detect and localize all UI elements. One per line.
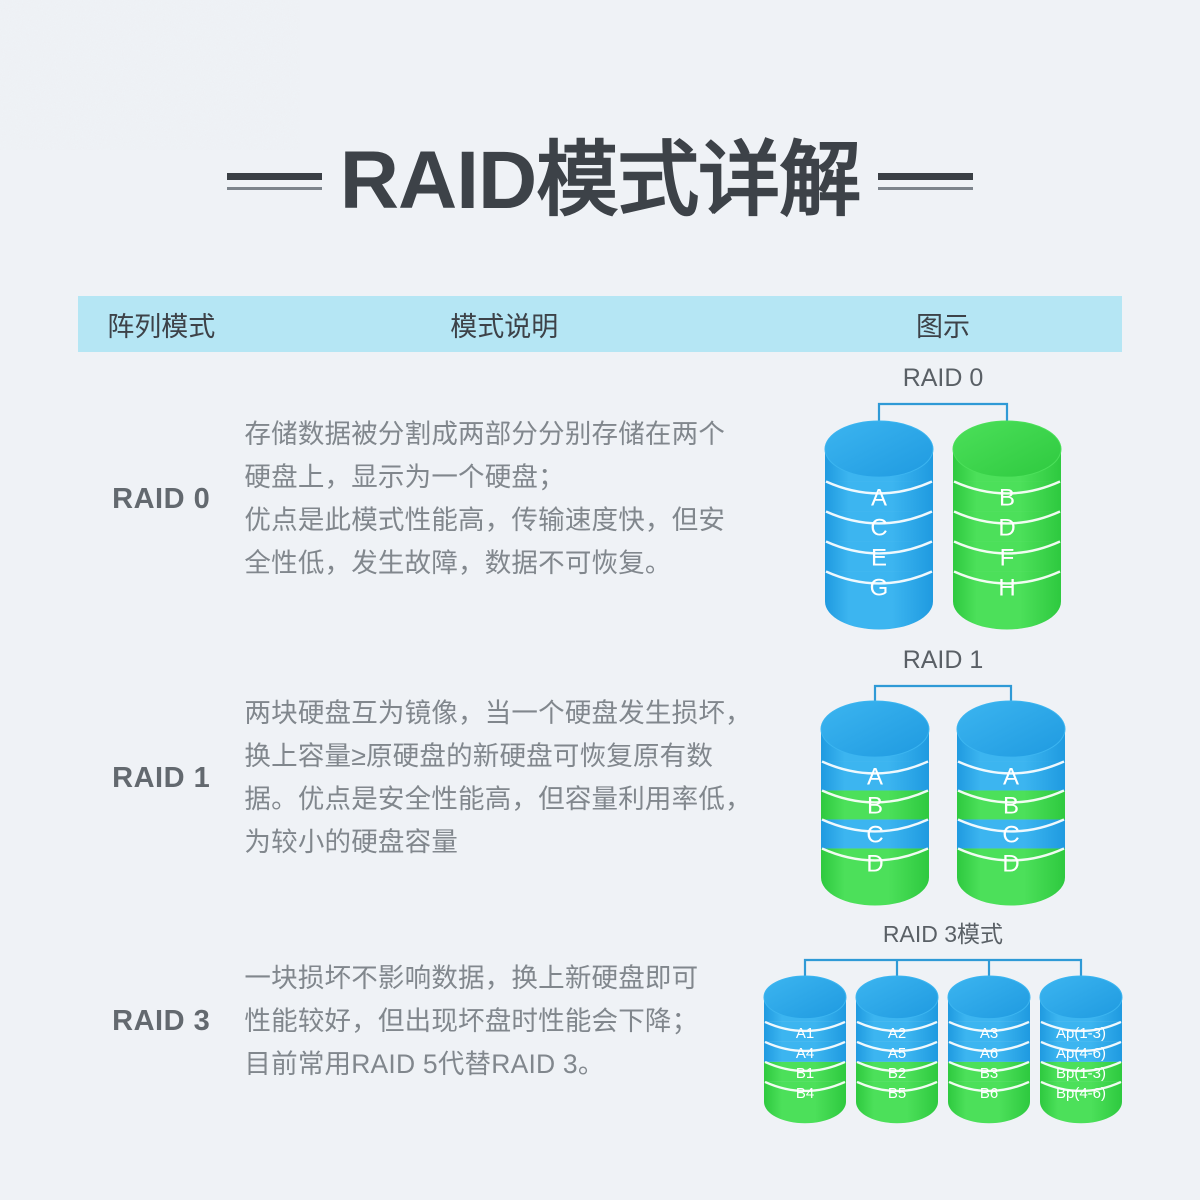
cell-description: 存储数据被分割成两部分分别存储在两个 硬盘上，显示为一个硬盘； 优点是此模式性能… bbox=[244, 352, 764, 646]
cell-mode: RAID 0 bbox=[78, 352, 244, 646]
mode-label-1: RAID 1 bbox=[112, 762, 210, 794]
disk-1: A1A4B1B4 bbox=[764, 976, 846, 1123]
cell-description: 两块硬盘互为镜像，当一个硬盘发生损坏， 换上容量≥原硬盘的新硬盘可恢复原有数 据… bbox=[244, 646, 764, 910]
figure-raid-3: RAID 3模式 A1A4B1B4 A2A5B2B5 bbox=[764, 915, 1122, 1124]
svg-text:B4: B4 bbox=[796, 1085, 814, 1102]
svg-text:A: A bbox=[1003, 763, 1019, 790]
svg-text:A5: A5 bbox=[888, 1045, 906, 1062]
figure-caption: RAID 3模式 bbox=[764, 915, 1122, 949]
cell-figure: RAID 3模式 A1A4B1B4 A2A5B2B5 bbox=[764, 910, 1122, 1133]
svg-text:B5: B5 bbox=[888, 1085, 906, 1102]
figure-caption: RAID 1 bbox=[821, 646, 1065, 675]
svg-text:A4: A4 bbox=[796, 1045, 814, 1062]
cell-description: 一块损坏不影响数据，换上新硬盘即可 性能较好，但出现坏盘时性能会下降； 目前常用… bbox=[244, 910, 764, 1133]
svg-text:Bp(4-6): Bp(4-6) bbox=[1056, 1085, 1106, 1102]
mode-label-2: RAID 3 bbox=[112, 1005, 210, 1037]
svg-text:D: D bbox=[1002, 850, 1019, 877]
description-text-0: 存储数据被分割成两部分分别存储在两个 硬盘上，显示为一个硬盘； 优点是此模式性能… bbox=[244, 413, 764, 585]
svg-text:Ap(4-6): Ap(4-6) bbox=[1056, 1045, 1106, 1062]
svg-text:B6: B6 bbox=[980, 1085, 998, 1102]
title-rule-left bbox=[227, 173, 322, 190]
title-rule-right bbox=[878, 173, 973, 190]
svg-text:A: A bbox=[867, 763, 883, 790]
raid-modes-table: 阵列模式 模式说明 图示 RAID 0存储数据被分割成两部分分别存储在两个 硬盘… bbox=[78, 296, 1122, 1133]
disk-1: ABCD bbox=[821, 701, 929, 906]
column-header-mode: 阵列模式 bbox=[78, 296, 244, 352]
figure-raid-0: RAID 0 ACEG BDFH bbox=[825, 364, 1061, 629]
cell-figure: RAID 0 ACEG BDFH bbox=[764, 352, 1122, 646]
background-texture bbox=[0, 0, 300, 150]
svg-text:D: D bbox=[998, 514, 1015, 541]
svg-text:G: G bbox=[870, 574, 889, 601]
svg-text:B1: B1 bbox=[796, 1065, 814, 1082]
table-row: RAID 1两块硬盘互为镜像，当一个硬盘发生损坏， 换上容量≥原硬盘的新硬盘可恢… bbox=[78, 646, 1122, 910]
column-header-description: 模式说明 bbox=[244, 296, 764, 352]
svg-text:A1: A1 bbox=[796, 1025, 814, 1042]
disk-2: A2A5B2B5 bbox=[856, 976, 938, 1123]
svg-text:C: C bbox=[1002, 821, 1019, 848]
table-body: RAID 0存储数据被分割成两部分分别存储在两个 硬盘上，显示为一个硬盘； 优点… bbox=[78, 352, 1122, 1133]
svg-text:A2: A2 bbox=[888, 1025, 906, 1042]
svg-text:F: F bbox=[1000, 544, 1015, 571]
disk-3: A3A6B3B6 bbox=[948, 976, 1030, 1123]
cell-mode: RAID 1 bbox=[78, 646, 244, 910]
svg-text:B2: B2 bbox=[888, 1065, 906, 1082]
disk-group: ABCD ABCD bbox=[821, 701, 1065, 906]
table-header-row: 阵列模式 模式说明 图示 bbox=[78, 296, 1122, 352]
svg-text:B: B bbox=[1003, 792, 1019, 819]
svg-text:E: E bbox=[871, 544, 887, 571]
table-row: RAID 0存储数据被分割成两部分分别存储在两个 硬盘上，显示为一个硬盘； 优点… bbox=[78, 352, 1122, 646]
column-header-figure: 图示 bbox=[764, 296, 1122, 352]
disk-4: Ap(1-3)Ap(4-6)Bp(1-3)Bp(4-6) bbox=[1040, 976, 1122, 1123]
description-text-1: 两块硬盘互为镜像，当一个硬盘发生损坏， 换上容量≥原硬盘的新硬盘可恢复原有数 据… bbox=[244, 692, 764, 864]
disk-group: ACEG BDFH bbox=[825, 421, 1061, 630]
cell-mode: RAID 3 bbox=[78, 910, 244, 1133]
svg-text:A6: A6 bbox=[980, 1045, 998, 1062]
svg-text:D: D bbox=[866, 850, 883, 877]
svg-text:A: A bbox=[871, 484, 887, 511]
svg-text:A3: A3 bbox=[980, 1025, 998, 1042]
svg-text:C: C bbox=[870, 514, 887, 541]
table-row: RAID 3一块损坏不影响数据，换上新硬盘即可 性能较好，但出现坏盘时性能会下降… bbox=[78, 910, 1122, 1133]
svg-text:Ap(1-3): Ap(1-3) bbox=[1056, 1025, 1106, 1042]
figure-raid-1: RAID 1 ABCD ABCD bbox=[821, 646, 1065, 905]
mode-label-0: RAID 0 bbox=[112, 483, 210, 515]
disk-2: ABCD bbox=[957, 701, 1065, 906]
disk-group: A1A4B1B4 A2A5B2B5 A3A6B3B6 bbox=[764, 976, 1122, 1123]
cell-figure: RAID 1 ABCD ABCD bbox=[764, 646, 1122, 910]
page-title: RAID模式详解 bbox=[340, 140, 860, 222]
svg-text:B3: B3 bbox=[980, 1065, 998, 1082]
svg-text:B: B bbox=[867, 792, 883, 819]
svg-text:B: B bbox=[999, 484, 1015, 511]
svg-text:H: H bbox=[998, 574, 1015, 601]
description-text-2: 一块损坏不影响数据，换上新硬盘即可 性能较好，但出现坏盘时性能会下降； 目前常用… bbox=[244, 957, 764, 1086]
page-header: RAID模式详解 bbox=[0, 140, 1200, 222]
svg-text:C: C bbox=[866, 821, 883, 848]
disk-1: ACEG bbox=[825, 421, 933, 630]
svg-text:Bp(1-3): Bp(1-3) bbox=[1056, 1065, 1106, 1082]
disk-2: BDFH bbox=[953, 421, 1061, 630]
figure-caption: RAID 0 bbox=[825, 364, 1061, 393]
